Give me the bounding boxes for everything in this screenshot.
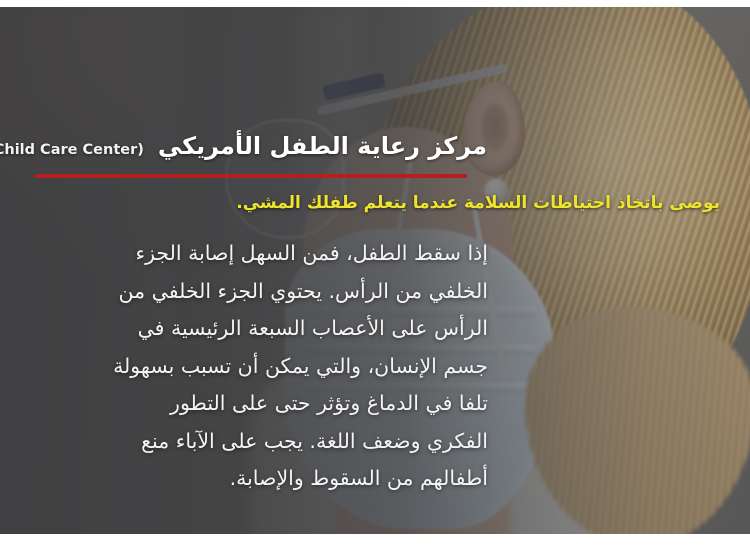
text-content-layer: مركز رعاية الطفل الأمريكي (American Chil… bbox=[0, 7, 750, 534]
red-divider-rule bbox=[35, 174, 467, 178]
infographic-canvas: مركز رعاية الطفل الأمريكي (American Chil… bbox=[0, 0, 750, 545]
body-paragraph-text: إذا سقط الطفل، فمن السهل إصابة الجزء الخ… bbox=[113, 241, 488, 490]
body-paragraph: إذا سقط الطفل، فمن السهل إصابة الجزء الخ… bbox=[110, 235, 488, 498]
brand-title-arabic: مركز رعاية الطفل الأمريكي bbox=[158, 132, 487, 160]
bottom-white-strip bbox=[0, 534, 750, 545]
brand-headline: مركز رعاية الطفل الأمريكي (American Chil… bbox=[0, 132, 487, 160]
brand-title-english: (American Child Care Center) bbox=[0, 142, 144, 158]
safety-subheading: يوصى باتخاذ احتياطات السلامة عندما يتعلم… bbox=[0, 193, 720, 213]
top-white-strip bbox=[0, 0, 750, 7]
